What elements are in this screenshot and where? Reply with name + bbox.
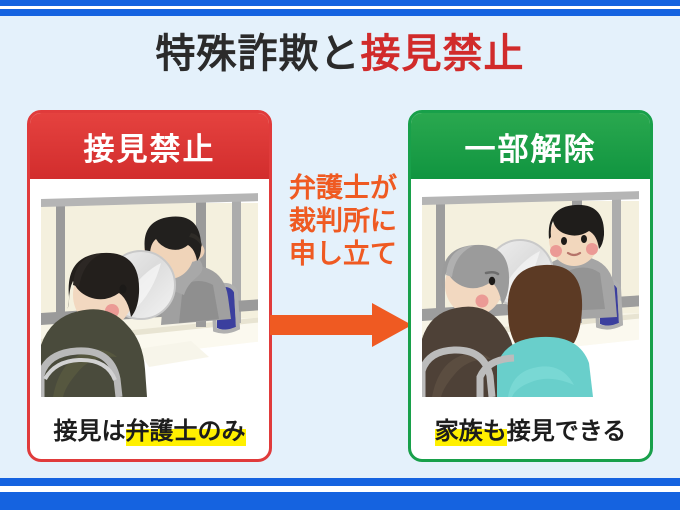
lawyer-visit-svg (41, 189, 258, 397)
page-title: 特殊詐欺と接見禁止 (0, 30, 680, 78)
bottom-rule-thick (0, 478, 680, 486)
card-partial-release-caption: 家族も接見できる (422, 397, 639, 459)
card-prohibited: 接見禁止 (27, 110, 272, 462)
family-visit-svg (422, 189, 639, 397)
page-title-accent: 接見禁止 (361, 32, 525, 76)
card-prohibited-caption-highlight: 弁護士のみ (126, 411, 246, 446)
card-prohibited-header-label: 接見禁止 (84, 124, 216, 169)
page-title-plain: 特殊詐欺と (156, 32, 361, 76)
process-description: 弁護士が 裁判所に 申し立て (277, 172, 409, 271)
family-visiting-detainee-illustration (422, 189, 639, 397)
card-partial-release-body: 家族も接見できる (411, 179, 650, 459)
card-prohibited-body: 接見は弁護士のみ (30, 179, 269, 459)
card-partial-release-header-label: 一部解除 (465, 124, 597, 169)
lawyer-visiting-detainee-illustration (41, 189, 258, 397)
top-rule-thick (0, 9, 680, 16)
card-partial-release: 一部解除 (408, 110, 653, 462)
bottom-rule-thin (0, 492, 680, 510)
card-partial-release-header: 一部解除 (411, 113, 650, 179)
card-prohibited-caption-plain: 接見は (54, 411, 126, 446)
right-arrow (270, 303, 412, 347)
card-prohibited-caption: 接見は弁護士のみ (41, 397, 258, 459)
card-partial-release-caption-plain: 接見できる (507, 411, 627, 446)
process-line-2: 裁判所に (277, 205, 409, 238)
card-prohibited-header: 接見禁止 (30, 113, 269, 179)
card-partial-release-caption-highlight: 家族も (435, 411, 507, 446)
slide-root: 特殊詐欺と接見禁止 接見禁止 (0, 0, 680, 510)
process-line-1: 弁護士が (277, 172, 409, 205)
process-line-3: 申し立て (277, 238, 409, 271)
right-arrow-icon (270, 303, 412, 347)
